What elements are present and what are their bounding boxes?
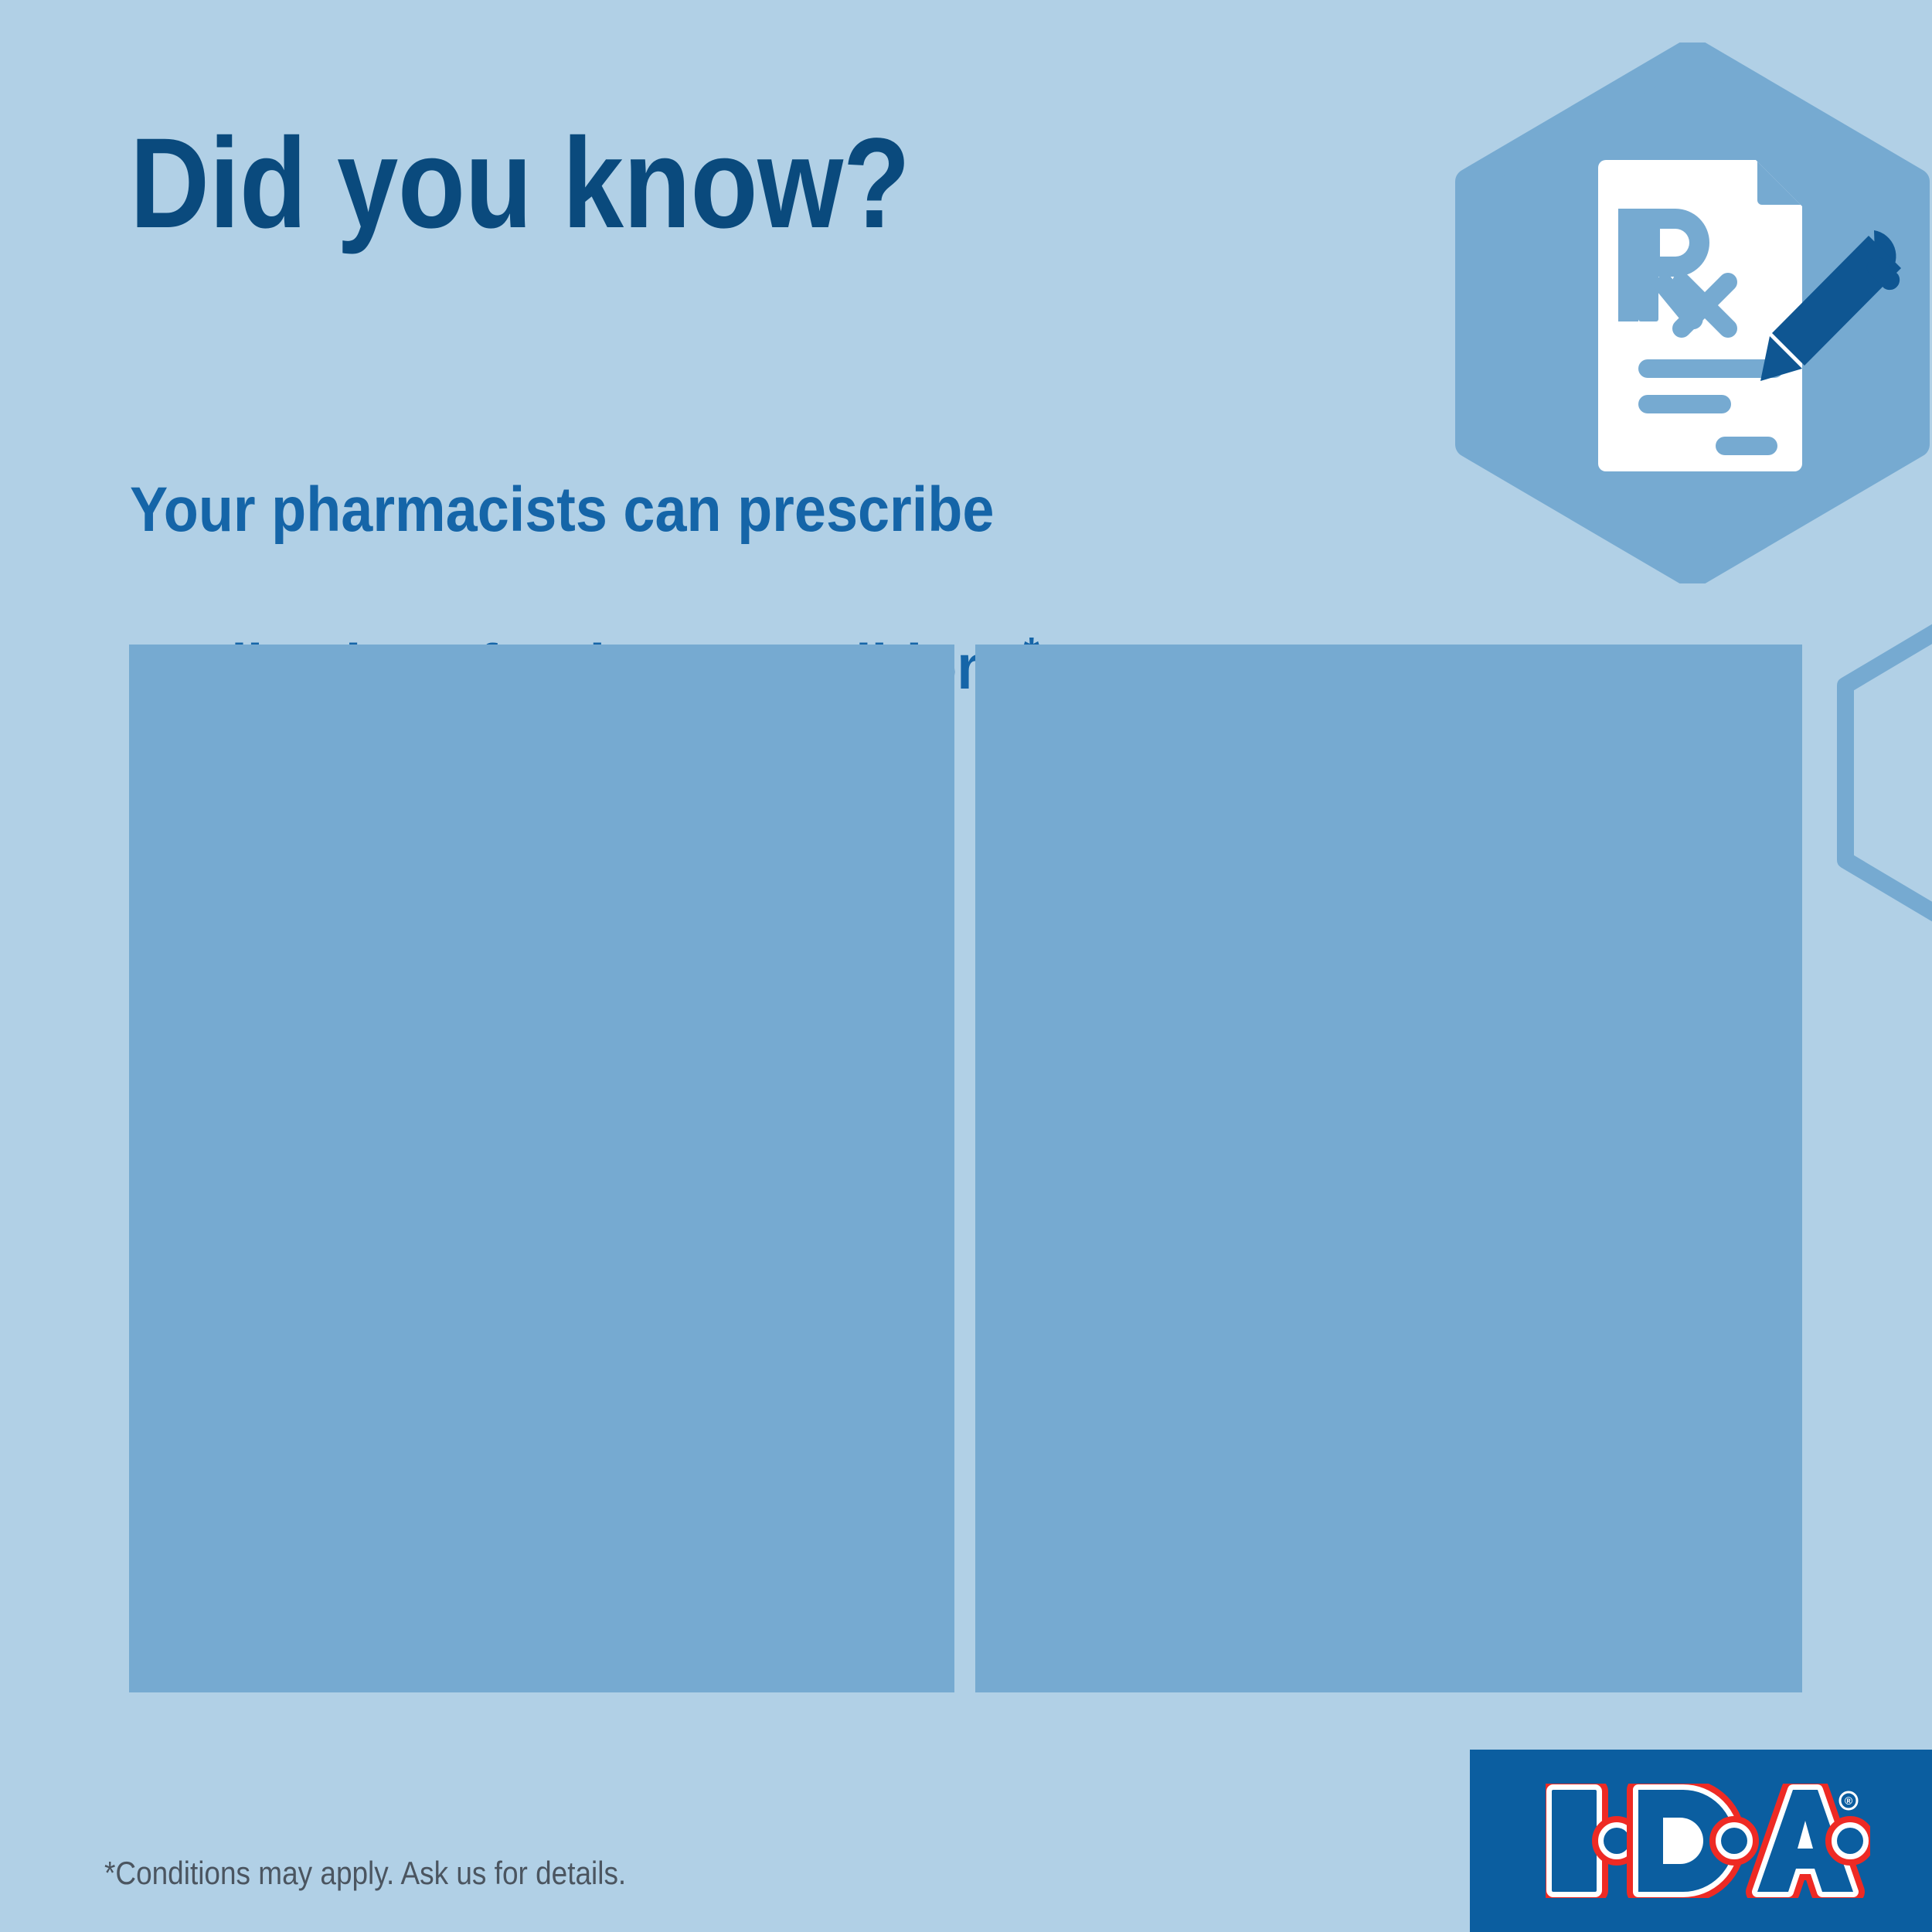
- ida-logo: ®: [1546, 1784, 1870, 1898]
- brand-logo-block: ®: [1470, 1750, 1932, 1932]
- hexagon-outline-decoration: [1830, 587, 1932, 958]
- page-title: Did you know?: [130, 120, 910, 248]
- rx-prescription-pen-icon: [1598, 160, 1901, 471]
- condition-panels: [129, 645, 1802, 1692]
- condition-panel-left[interactable]: [129, 645, 954, 1692]
- hexagon-badge: [1453, 43, 1932, 583]
- registered-mark-glyph: ®: [1845, 1794, 1853, 1807]
- subheading-line-1: Your pharmacists can prescribe: [130, 474, 994, 545]
- registered-trademark-icon: ®: [1840, 1792, 1857, 1809]
- disclaimer-footnote: *Conditions may apply. Ask us for detail…: [104, 1855, 626, 1892]
- condition-panel-right[interactable]: [975, 645, 1802, 1692]
- poster-canvas: Did you know? Your pharmacists can presc…: [0, 0, 1932, 1932]
